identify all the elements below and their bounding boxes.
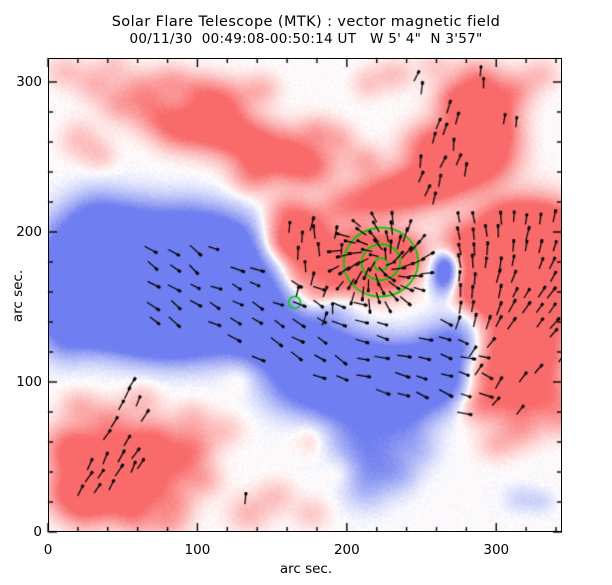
- x-tick-label: 200: [327, 542, 367, 558]
- figure-title-block: Solar Flare Telescope (MTK) : vector mag…: [0, 14, 612, 47]
- x-axis-label: arc sec.: [0, 561, 612, 577]
- figure-root: Solar Flare Telescope (MTK) : vector mag…: [0, 0, 612, 585]
- page-title: Solar Flare Telescope (MTK) : vector mag…: [0, 14, 612, 31]
- y-tick-label: 300: [4, 74, 42, 90]
- y-tick-label: 0: [4, 524, 42, 540]
- observation-subtitle: 00/11/30 00:49:08-00:50:14 UT W 5' 4" N …: [0, 31, 612, 47]
- y-axis-label: arc sec.: [10, 256, 26, 336]
- vector-field-overlay: [49, 59, 561, 531]
- x-tick-label: 0: [28, 542, 68, 558]
- y-tick-label: 100: [4, 374, 42, 390]
- x-tick-label: 100: [177, 542, 217, 558]
- y-tick-label: 200: [4, 224, 42, 240]
- x-tick-label: 300: [476, 542, 516, 558]
- magnetogram-plot-area: [48, 58, 562, 532]
